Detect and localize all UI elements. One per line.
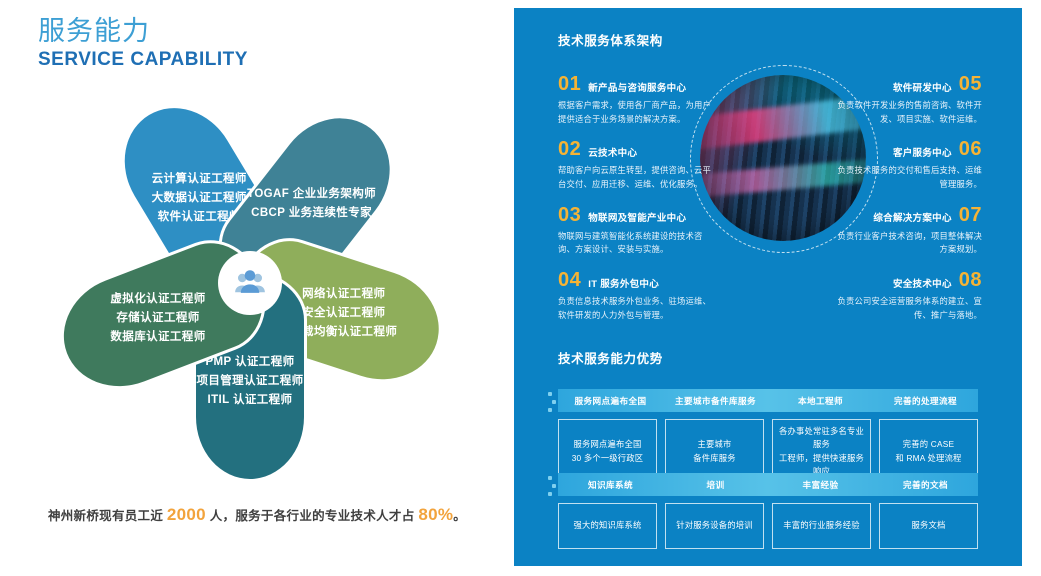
dots-decoration-icon [548,476,557,500]
petal-text-line: ITIL 认证工程师 [155,392,345,411]
petal-text-line: 数据库认证工程师 [63,328,253,347]
service-center-head: 安全技术中心08 [832,270,982,290]
advantage-cell: 服务文档 [879,503,978,549]
caption-highlight-percent: 80% [418,505,453,524]
service-center-description: 负责软件开发业务的售前咨询、软件开发、项目实施、软件运维。 [832,99,982,126]
title-chinese: 服务能力 [38,16,248,47]
service-center-head: 01新产品与咨询服务中心 [558,74,718,94]
advantage-table-2-header: 知识库系统培训丰富经验完善的文档 [558,473,978,496]
left-panel: 服务能力 SERVICE CAPABILITY 云计算认证工程师大数据认证工程师… [0,0,514,576]
flower-center [218,251,282,315]
advantage-column-header: 培训 [663,473,768,496]
page-title: 服务能力 SERVICE CAPABILITY [38,16,248,72]
caption-part-1: 神州新桥现有员工近 [48,509,167,523]
advantage-column-header: 服务网点遍布全国 [558,389,663,412]
advantage-column-header: 知识库系统 [558,473,663,496]
service-center-number: 08 [959,270,982,290]
service-center-description: 负责公司安全运营服务体系的建立、宣传、推广与落地。 [832,295,982,322]
service-center-title: 客户服务中心 [893,149,952,160]
advantage-column-header: 本地工程师 [768,389,873,412]
caption-part-2: 人，服务于各行业的专业技术人才占 [206,509,418,523]
slide-page: 服务能力 SERVICE CAPABILITY 云计算认证工程师大数据认证工程师… [0,0,1041,576]
advantage-column-header: 完善的文档 [873,473,978,496]
service-center-head: 04IT 服务外包中心 [558,270,718,290]
service-center-item[interactable]: 客户服务中心06负责技术服务的交付和售后支持、运维管理服务。 [832,139,982,191]
service-center-title: 综合解决方案中心 [873,214,951,225]
service-center-item[interactable]: 综合解决方案中心07负责行业客户技术咨询，项目整体解决方案规划。 [832,205,982,257]
employee-statistics-caption: 神州新桥现有员工近 2000 人，服务于各行业的专业技术人才占 80%。 [0,505,514,525]
service-center-number: 02 [558,139,581,159]
service-center-description: 物联网与建筑智能化系统建设的技术咨询、方案设计、安装与实施。 [558,230,718,257]
service-center-description: 负责信息技术服务外包业务、驻场运维、软件研发的人力外包与管理。 [558,295,718,322]
service-center-description: 帮助客户向云原生转型，提供咨询、云平台交付、应用迁移、运维、优化服务。 [558,164,718,191]
advantage-cell: 针对服务设备的培训 [665,503,764,549]
dots-decoration-icon [548,392,557,416]
advantage-cell: 丰富的行业服务经验 [772,503,871,549]
section-heading-advantage: 技术服务能力优势 [558,348,663,367]
service-center-item[interactable]: 02云技术中心帮助客户向云原生转型，提供咨询、云平台交付、应用迁移、运维、优化服… [558,139,718,191]
service-center-title: 安全技术中心 [893,280,952,291]
service-center-title: 云技术中心 [588,149,637,160]
service-center-head: 综合解决方案中心07 [832,205,982,225]
petal-text-line: 项目管理认证工程师 [155,373,345,392]
capability-flower-diagram: 云计算认证工程师大数据认证工程师软件认证工程师 TOGAF 企业业务架构师CBC… [30,78,470,488]
service-center-number: 04 [558,270,581,290]
service-center-item[interactable]: 01新产品与咨询服务中心根据客户需求，使用各厂商产品，为用户提供适合于业务场景的… [558,74,718,126]
service-center-title: 软件研发中心 [893,84,952,95]
service-center-item[interactable]: 04IT 服务外包中心负责信息技术服务外包业务、驻场运维、软件研发的人力外包与管… [558,270,718,322]
petal-text-line: CBCP 业务连续性专家 [217,204,407,223]
advantage-table-1: 服务网点遍布全国主要城市备件库服务本地工程师完善的处理流程 服务网点遍布全国30… [558,389,978,484]
advantage-cell: 强大的知识库系统 [558,503,657,549]
petal-text-line: TOGAF 企业业务架构师 [217,185,407,204]
advantage-table-2-body: 强大的知识库系统针对服务设备的培训丰富的行业服务经验服务文档 [558,503,978,549]
service-center-number: 01 [558,74,581,94]
service-center-description: 根据客户需求，使用各厂商产品，为用户提供适合于业务场景的解决方案。 [558,99,718,126]
service-center-description: 负责技术服务的交付和售后支持、运维管理服务。 [832,164,982,191]
service-center-head: 03物联网及智能产业中心 [558,205,718,225]
people-group-icon [233,266,267,300]
service-center-title: 物联网及智能产业中心 [588,214,686,225]
service-center-item[interactable]: 安全技术中心08负责公司安全运营服务体系的建立、宣传、推广与落地。 [832,270,982,322]
service-center-title: IT 服务外包中心 [588,280,659,291]
title-english: SERVICE CAPABILITY [38,48,248,72]
service-center-number: 06 [959,139,982,159]
caption-part-3: 。 [453,509,466,523]
service-center-number: 03 [558,205,581,225]
section-heading-architecture: 技术服务体系架构 [558,30,663,49]
advantage-table-1-header: 服务网点遍布全国主要城市备件库服务本地工程师完善的处理流程 [558,389,978,412]
caption-highlight-employees: 2000 [167,505,206,524]
petal-text-line: 存储认证工程师 [63,309,253,328]
right-panel: 技术服务体系架构 01新产品与咨询服务中心根据客户需求，使用各厂商产品，为用户提… [514,8,1022,566]
service-center-head: 客户服务中心06 [832,139,982,159]
service-center-title: 新产品与咨询服务中心 [588,84,686,95]
service-center-head: 02云技术中心 [558,139,718,159]
advantage-column-header: 丰富经验 [768,473,873,496]
advantage-column-header: 主要城市备件库服务 [663,389,768,412]
service-center-item[interactable]: 03物联网及智能产业中心物联网与建筑智能化系统建设的技术咨询、方案设计、安装与实… [558,205,718,257]
service-center-number: 07 [959,205,982,225]
service-centers-left-column: 01新产品与咨询服务中心根据客户需求，使用各厂商产品，为用户提供适合于业务场景的… [558,74,718,336]
service-centers-right-column: 软件研发中心05负责软件开发业务的售前咨询、软件开发、项目实施、软件运维。客户服… [832,74,982,336]
service-center-number: 05 [959,74,982,94]
service-center-head: 软件研发中心05 [832,74,982,94]
petal-architecture-label: TOGAF 企业业务架构师CBCP 业务连续性专家 [217,185,407,223]
service-center-item[interactable]: 软件研发中心05负责软件开发业务的售前咨询、软件开发、项目实施、软件运维。 [832,74,982,126]
advantage-table-2: 知识库系统培训丰富经验完善的文档 强大的知识库系统针对服务设备的培训丰富的行业服… [558,473,978,549]
service-center-description: 负责行业客户技术咨询，项目整体解决方案规划。 [832,230,982,257]
advantage-column-header: 完善的处理流程 [873,389,978,412]
